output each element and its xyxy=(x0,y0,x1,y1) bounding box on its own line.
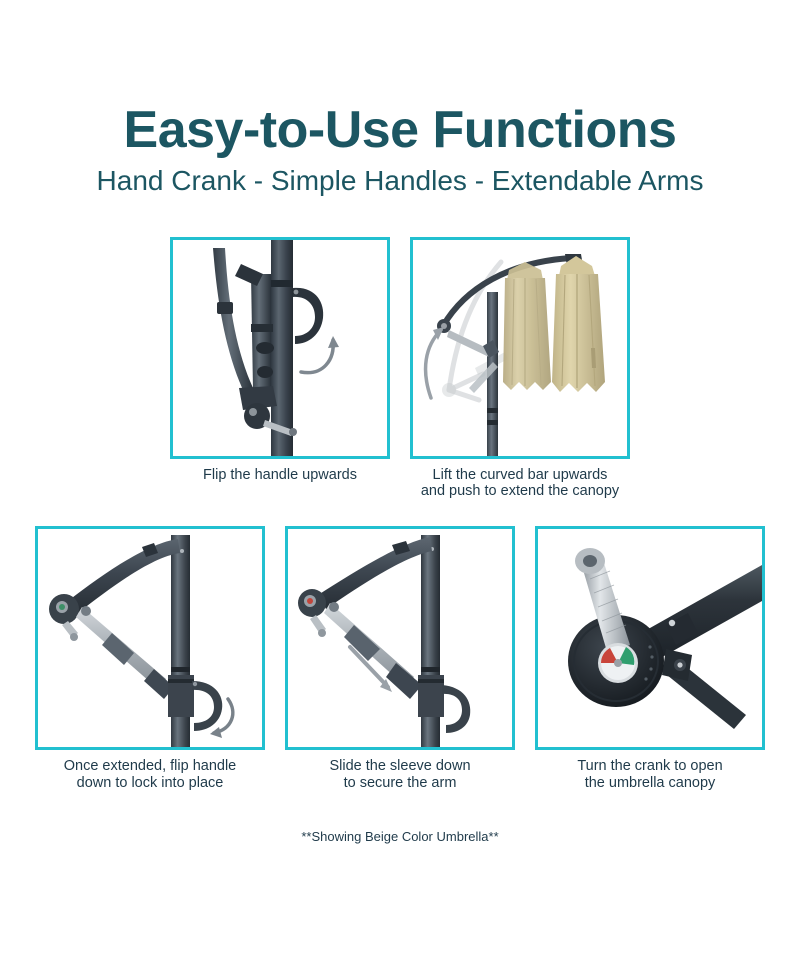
footnote: **Showing Beige Color Umbrella** xyxy=(0,829,800,844)
steps-row-bottom: Once extended, flip handle down to lock … xyxy=(0,526,800,791)
step-3-image-frame xyxy=(35,526,265,750)
cantilever-umbrella-curved-bar-illustration xyxy=(413,240,627,456)
step-3: Once extended, flip handle down to lock … xyxy=(35,526,265,791)
step-1: Flip the handle upwards xyxy=(170,237,390,484)
pole-with-flip-handle-illustration xyxy=(173,240,387,456)
infographic-page: Easy-to-Use Functions Hand Crank - Simpl… xyxy=(0,0,800,977)
header: Easy-to-Use Functions Hand Crank - Simpl… xyxy=(0,0,800,197)
step-2-caption: Lift the curved bar upwards and push to … xyxy=(421,467,619,500)
step-5-image-frame xyxy=(535,526,765,750)
step-4-image-frame xyxy=(285,526,515,750)
step-5: Turn the crank to open the umbrella cano… xyxy=(535,526,765,791)
extended-arm-with-handle-illustration xyxy=(38,529,262,747)
step-5-caption: Turn the crank to open the umbrella cano… xyxy=(577,758,722,791)
step-1-image-frame xyxy=(170,237,390,459)
step-4-caption: Slide the sleeve down to secure the arm xyxy=(329,758,470,791)
crank-handle-with-dial-illustration xyxy=(538,529,762,747)
step-3-caption: Once extended, flip handle down to lock … xyxy=(64,758,237,791)
page-title: Easy-to-Use Functions xyxy=(0,104,800,156)
step-4: Slide the sleeve down to secure the arm xyxy=(285,526,515,791)
arm-with-sliding-sleeve-illustration xyxy=(288,529,512,747)
page-subtitle: Hand Crank - Simple Handles - Extendable… xyxy=(0,166,800,197)
step-1-caption: Flip the handle upwards xyxy=(203,467,357,484)
steps-row-top: Flip the handle upwards xyxy=(0,237,800,500)
step-2: Lift the curved bar upwards and push to … xyxy=(410,237,630,500)
step-2-image-frame xyxy=(410,237,630,459)
